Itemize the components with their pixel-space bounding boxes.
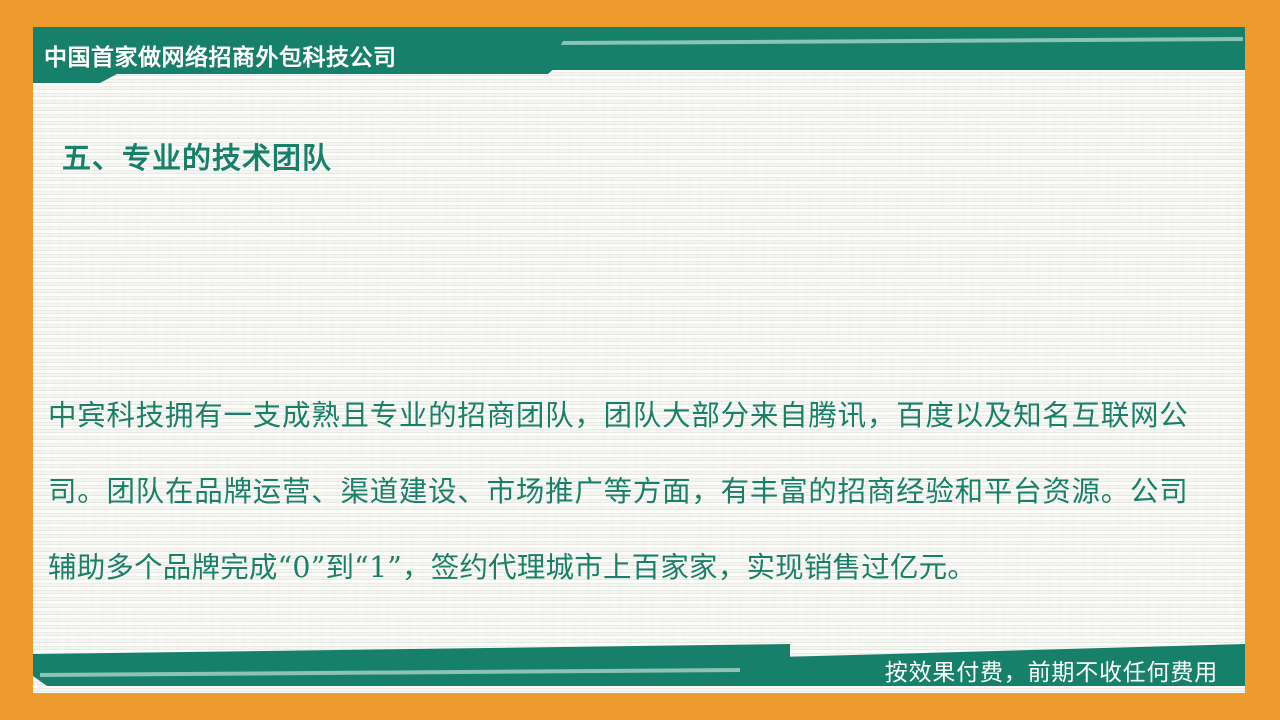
footer-tagline: 按效果付费，前期不收任何费用 bbox=[885, 653, 1218, 687]
header-title: 中国首家做网络招商外包科技公司 bbox=[44, 38, 397, 72]
slide-canvas: 中国首家做网络招商外包科技公司 五、专业的技术团队 中宾科技拥有一支成熟且专业的… bbox=[0, 0, 1280, 720]
section-heading: 五、专业的技术团队 bbox=[62, 135, 332, 177]
body-paragraph-container: 中宾科技拥有一支成熟且专业的招商团队，团队大部分来自腾讯，百度以及知名互联网公司… bbox=[48, 226, 1188, 720]
body-paragraph: 中宾科技拥有一支成熟且专业的招商团队，团队大部分来自腾讯，百度以及知名互联网公司… bbox=[48, 378, 1188, 606]
